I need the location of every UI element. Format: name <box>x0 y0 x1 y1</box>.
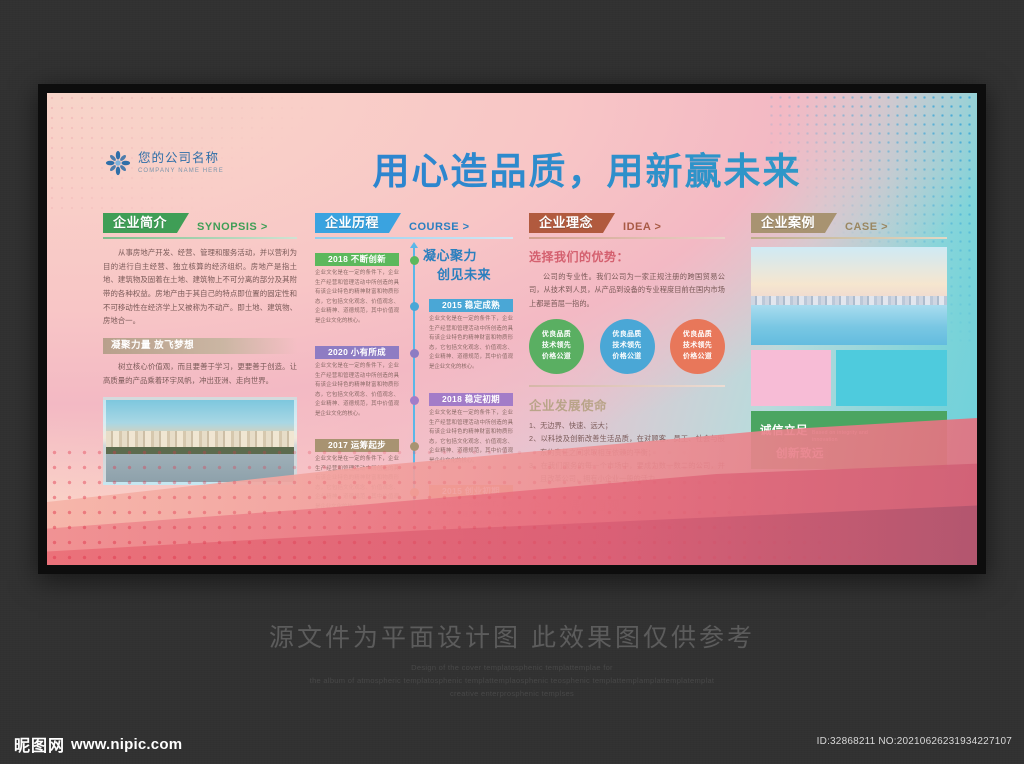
advantage-circle: 优良品质技术领先价格公道 <box>600 319 655 374</box>
advantage-circle: 优良品质技术领先价格公道 <box>529 319 584 374</box>
wave-dot-pattern <box>47 445 977 565</box>
course-headline-line1: 凝心聚力 <box>423 247 513 266</box>
synopsis-paragraph-2: 树立核心价值观，而且要善于学习，更要善于创造。让高质量的产品乘着环宇风帆，冲出亚… <box>103 360 297 387</box>
case-banner-en: CASE > <box>845 221 888 233</box>
timeline-item-tag: 2018 不断创新 <box>315 253 399 266</box>
timeline-item-body: 企业文化是在一定的条件下，企业生产经营和管理活动中所创造的具有该企业特色的精神财… <box>429 315 513 373</box>
course-banner-en: COURSE > <box>409 221 470 233</box>
idea-banner-en: IDEA > <box>623 221 661 233</box>
synopsis-banner-en: SYNOPSIS > <box>197 221 268 233</box>
case-header: 企业案例 CASE > <box>751 211 947 233</box>
advantage-circle-line: 价格公道 <box>542 352 571 363</box>
idea-divider <box>529 237 725 239</box>
asset-id-text: ID:32868211 NO:20210626231934227107 <box>817 736 1012 747</box>
poster-frame: 您的公司名称 COMPANY NAME HERE 用心造品质，用新赢未来 企业简… <box>38 84 986 574</box>
idea-banner-label: 企业理念 <box>529 213 615 233</box>
advantage-circle-line: 优良品质 <box>683 330 712 341</box>
timeline-item: 2018 不断创新企业文化是在一定的条件下，企业生产经营和管理活动中所创造的具有… <box>315 253 399 327</box>
course-headline-line2: 创见未来 <box>423 266 513 285</box>
timeline-dot <box>410 396 419 405</box>
case-banner-label: 企业案例 <box>751 213 837 233</box>
case-swatch-cyan <box>836 350 947 406</box>
preview-caption: 源文件为平面设计图 此效果图仅供参考 Design of the cover t… <box>0 618 1024 700</box>
footer-bar: 昵图网 www.nipic.com ID:32868211 NO:2021062… <box>0 720 1024 764</box>
synopsis-divider <box>103 237 297 239</box>
idea-circle-group: 优良品质技术领先价格公道优良品质技术领先价格公道优良品质技术领先价格公道 <box>529 319 725 374</box>
case-swatch-pink <box>751 350 831 406</box>
case-main-photo <box>751 247 947 345</box>
timeline-item: 2015 稳定成熟企业文化是在一定的条件下，企业生产经营和管理活动中所创造的具有… <box>429 299 513 373</box>
advantage-circle: 优良品质技术领先价格公道 <box>670 319 725 374</box>
advantage-circle-line: 价格公道 <box>683 352 712 363</box>
caption-cn: 源文件为平面设计图 此效果图仅供参考 <box>0 618 1024 654</box>
advantage-circle-line: 价格公道 <box>612 352 641 363</box>
course-header: 企业历程 COURSE > <box>315 211 513 233</box>
case-swatch-row <box>751 350 947 406</box>
idea-divider-2 <box>529 385 725 387</box>
idea-advantage-heading: 选择我们的优势： <box>529 248 725 265</box>
timeline-item-tag: 2018 稳定初期 <box>429 393 513 406</box>
idea-mission-heading: 企业发展使命 <box>529 395 725 414</box>
site-brand[interactable]: 昵图网 www.nipic.com <box>14 732 182 756</box>
poster-main-title: 用心造品质，用新赢未来 <box>47 141 977 195</box>
synopsis-subheading: 凝聚力量 放飞梦想 <box>103 338 297 354</box>
advantage-circle-line: 技术领先 <box>542 341 571 352</box>
timeline-item-body: 企业文化是在一定的条件下，企业生产经营和管理活动中所创造的具有该企业特色的精神财… <box>315 269 399 327</box>
brand-name-cn: 昵图网 <box>14 732 65 756</box>
timeline-item: 2020 小有所成企业文化是在一定的条件下，企业生产经营和管理活动中所创造的具有… <box>315 346 399 420</box>
synopsis-header: 企业简介 SYNOPSIS > <box>103 211 297 233</box>
advantage-circle-line: 优良品质 <box>542 330 571 341</box>
timeline-arrow-icon <box>410 242 418 248</box>
advantage-circle-line: 技术领先 <box>612 341 641 352</box>
caption-en-line: creative enterprosphenic templses <box>0 687 1024 700</box>
case-divider <box>751 237 947 239</box>
advantage-circle-line: 技术领先 <box>683 341 712 352</box>
brand-url: www.nipic.com <box>71 736 182 753</box>
idea-header: 企业理念 IDEA > <box>529 211 725 233</box>
timeline-item-tag: 2020 小有所成 <box>315 346 399 359</box>
timeline-item-tag: 2015 稳定成熟 <box>429 299 513 312</box>
course-divider <box>315 237 513 239</box>
course-headline: 凝心聚力 创见未来 <box>423 247 513 285</box>
course-banner-label: 企业历程 <box>315 213 401 233</box>
caption-en-line: the album of atmospheric templatosphenic… <box>0 674 1024 687</box>
caption-en: Design of the cover templatosphenic temp… <box>0 661 1024 700</box>
mission-list-item: 1、无边界、快速、远大； <box>529 419 725 432</box>
idea-advantage-text: 公司的专业性。我们公司为一家正规注册的跨国贸易公司，从技术到人员，从产品到设备的… <box>529 270 725 310</box>
timeline-dot <box>410 349 419 358</box>
synopsis-banner-label: 企业简介 <box>103 213 189 233</box>
timeline-item-body: 企业文化是在一定的条件下，企业生产经营和管理活动中所创造的具有该企业特色的精神财… <box>315 362 399 420</box>
timeline-dot <box>410 302 419 311</box>
advantage-circle-line: 优良品质 <box>612 330 641 341</box>
timeline-dot <box>410 256 419 265</box>
synopsis-paragraph: 从事房地产开发、经营、管理和服务活动，并以营利为目的进行自主经营、独立核算的经济… <box>103 246 297 328</box>
caption-en-line: Design of the cover templatosphenic temp… <box>0 661 1024 674</box>
poster-canvas: 您的公司名称 COMPANY NAME HERE 用心造品质，用新赢未来 企业简… <box>47 93 977 565</box>
